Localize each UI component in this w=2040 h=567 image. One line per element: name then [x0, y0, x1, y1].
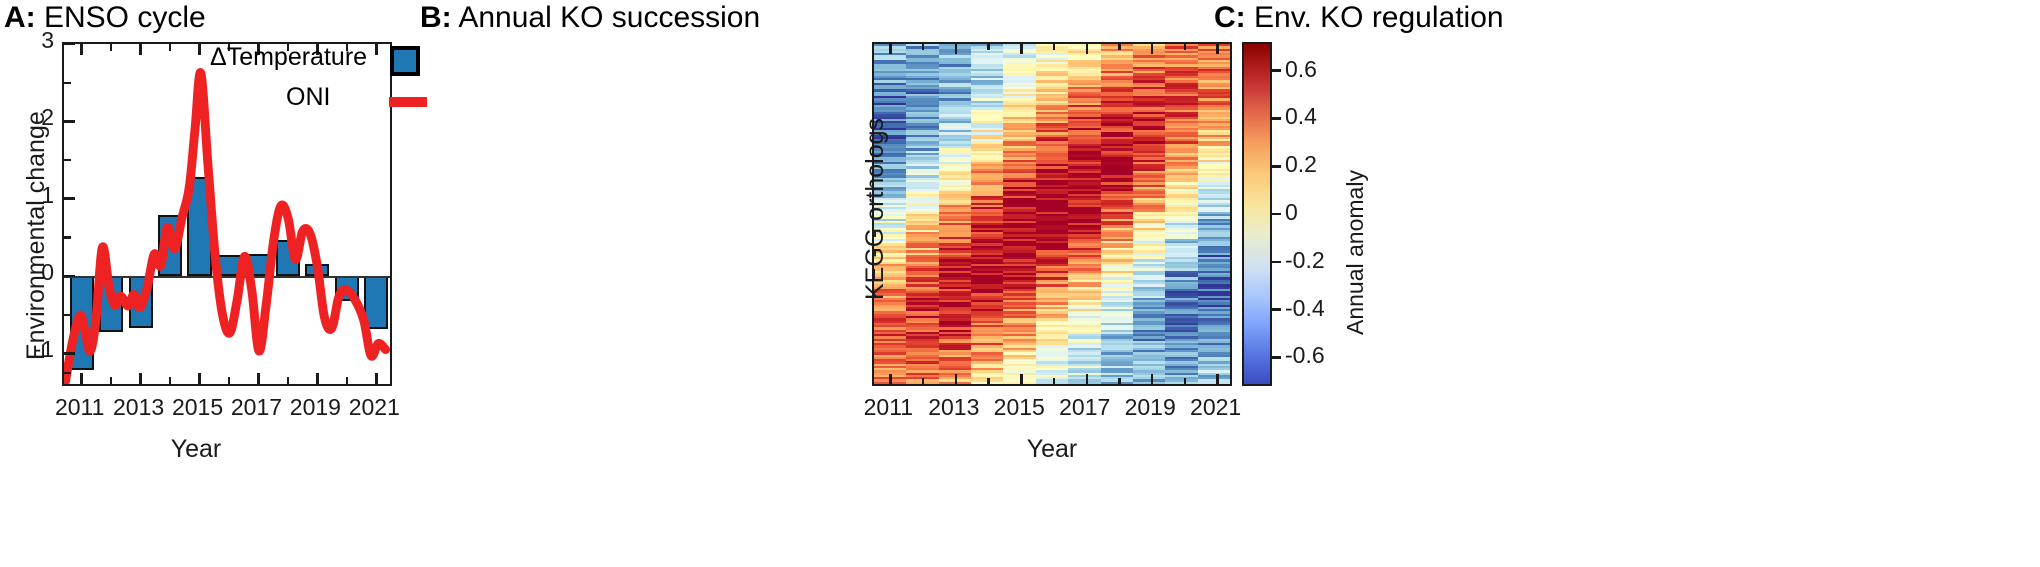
- x-tick-major: [889, 374, 892, 384]
- x-tick-top: [1053, 44, 1056, 50]
- panel-b-title: B: Annual KO succession: [420, 2, 760, 34]
- panel-c: C: Env. KO regulation RhodobacteraceaePr…: [1140, 0, 2040, 567]
- y-tick-major: [64, 197, 75, 200]
- x-tick-major: [1020, 374, 1023, 384]
- x-tick-minor: [287, 377, 290, 384]
- panel-a-y-axis-label: Environmental change: [22, 111, 51, 360]
- x-ticklabel: 2017: [231, 394, 282, 421]
- x-tick-major: [257, 373, 260, 384]
- x-tick-top: [1118, 44, 1121, 50]
- panel-c-tag: C:: [1214, 1, 1246, 34]
- panel-b-title-text: Annual KO succession: [458, 1, 760, 34]
- x-tick-top: [1184, 44, 1187, 50]
- temperature-bar: [187, 177, 211, 276]
- y-ticklabel: 3: [0, 27, 54, 54]
- x-ticklabel: 2011: [55, 394, 104, 421]
- x-tick-top: [80, 44, 83, 55]
- x-tick-minor: [922, 378, 925, 384]
- y-tick-minor: [64, 372, 71, 375]
- x-ticklabel: 2015: [172, 394, 223, 421]
- x-tick-minor: [1118, 378, 1121, 384]
- temperature-bar: [129, 276, 153, 329]
- temperature-bar: [335, 276, 359, 302]
- x-tick-minor: [110, 377, 113, 384]
- x-tick-minor: [169, 377, 172, 384]
- panel-b-x-axis-label: Year: [1027, 435, 1078, 464]
- zero-line: [64, 276, 390, 278]
- legend-oni-label: ONI: [286, 83, 330, 112]
- x-ticklabel: 2011: [864, 394, 913, 421]
- legend-temperature-label: ΔTemperature: [210, 43, 367, 72]
- x-tick-top: [987, 44, 990, 50]
- x-tick-major: [198, 373, 201, 384]
- x-tick-minor: [346, 377, 349, 384]
- x-tick-top: [1086, 44, 1089, 54]
- x-tick-major: [1216, 374, 1219, 384]
- panel-c-title: C: Env. KO regulation: [1214, 2, 1504, 34]
- oni-line: [64, 44, 390, 384]
- y-tick-major: [64, 120, 75, 123]
- x-ticklabel: 2019: [290, 394, 341, 421]
- x-tick-top: [110, 44, 113, 51]
- x-tick-minor: [987, 378, 990, 384]
- x-tick-minor: [1184, 378, 1187, 384]
- x-ticklabel: 2017: [1059, 394, 1110, 421]
- temperature-bar: [276, 240, 300, 276]
- figure-root: A: ENSO cycle 3210-1 2011201320152017201…: [0, 0, 2040, 567]
- x-tick-top: [1020, 44, 1023, 54]
- x-tick-minor: [1053, 378, 1056, 384]
- x-ticklabel: 2021: [349, 394, 400, 421]
- panel-a-axes: [62, 42, 392, 386]
- x-tick-major: [139, 373, 142, 384]
- temperature-bar: [70, 276, 94, 370]
- x-tick-top: [139, 44, 142, 55]
- panel-b-tag: B:: [420, 1, 452, 34]
- y-tick-minor: [64, 236, 71, 239]
- x-tick-minor: [228, 377, 231, 384]
- x-tick-major: [316, 373, 319, 384]
- x-tick-major: [80, 373, 83, 384]
- x-tick-top: [198, 44, 201, 55]
- panel-b: B: Annual KO succession 2011201320152017…: [420, 0, 1140, 567]
- x-tick-top: [169, 44, 172, 51]
- x-tick-top: [1216, 44, 1219, 54]
- temperature-bar: [246, 254, 270, 276]
- legend-temperature-swatch: [390, 46, 420, 76]
- y-tick-major: [64, 352, 75, 355]
- panel-a: A: ENSO cycle 3210-1 2011201320152017201…: [0, 0, 420, 567]
- x-tick-major: [1151, 374, 1154, 384]
- panel-a-x-axis-label: Year: [171, 435, 222, 464]
- y-tick-major: [64, 275, 75, 278]
- temperature-bar: [99, 276, 123, 332]
- y-tick-minor: [64, 159, 71, 162]
- panel-b-y-axis-label: KEGG orthologs: [861, 118, 890, 300]
- temperature-bar: [217, 255, 241, 276]
- x-tick-top: [922, 44, 925, 50]
- temperature-bar: [364, 276, 388, 329]
- y-tick-minor: [64, 314, 71, 317]
- x-tick-top: [955, 44, 958, 54]
- x-tick-top: [375, 44, 378, 55]
- x-tick-top: [889, 44, 892, 54]
- y-tick-major: [64, 43, 75, 46]
- temperature-bar: [158, 215, 182, 276]
- x-tick-major: [955, 374, 958, 384]
- x-tick-major: [375, 373, 378, 384]
- panel-c-title-text: Env. KO regulation: [1254, 1, 1504, 34]
- heatmap-cell: [1101, 382, 1134, 384]
- temperature-bar: [305, 264, 329, 276]
- panel-a-title-text: ENSO cycle: [44, 1, 206, 34]
- x-ticklabel: 2013: [928, 394, 979, 421]
- x-tick-major: [1086, 374, 1089, 384]
- x-ticklabel: 2015: [994, 394, 1045, 421]
- x-tick-top: [1151, 44, 1154, 54]
- y-tick-minor: [64, 82, 71, 85]
- x-ticklabel: 2013: [113, 394, 164, 421]
